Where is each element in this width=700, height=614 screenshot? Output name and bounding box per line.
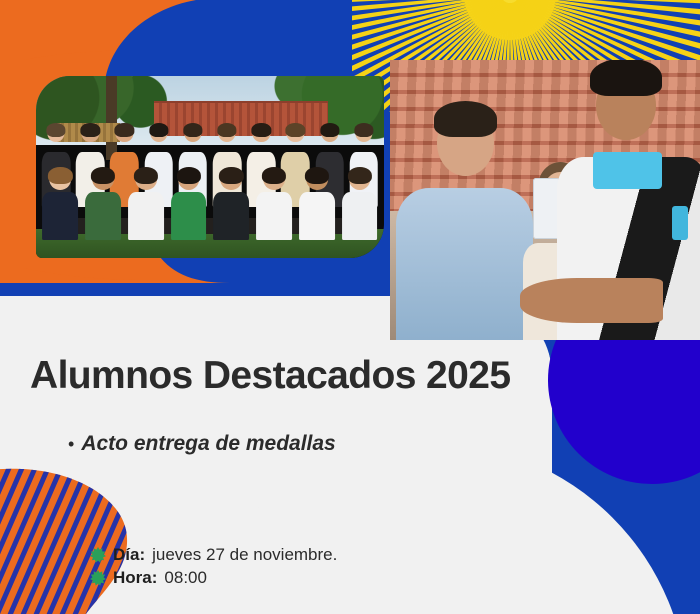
bullet-icon: • — [68, 435, 74, 453]
detail-row: Día:jueves 27 de noviembre. — [90, 545, 337, 565]
detail-row: Hora:08:00 — [90, 568, 337, 588]
green-starburst-icon — [90, 570, 106, 586]
detail-value: jueves 27 de noviembre. — [152, 545, 337, 565]
subtitle-row: • Acto entrega de medallas — [68, 432, 336, 456]
background-decoration — [0, 0, 700, 614]
event-details: Día:jueves 27 de noviembre.Hora:08:00 — [90, 545, 337, 591]
green-starburst-icon — [90, 547, 106, 563]
page-subtitle: Acto entrega de medallas — [81, 432, 335, 456]
detail-value: 08:00 — [164, 568, 207, 588]
detail-label: Día: — [113, 545, 145, 565]
poster-canvas: Alumnos Destacados 2025 • Acto entrega d… — [0, 0, 700, 614]
page-title: Alumnos Destacados 2025 — [30, 354, 510, 398]
detail-label: Hora: — [113, 568, 157, 588]
